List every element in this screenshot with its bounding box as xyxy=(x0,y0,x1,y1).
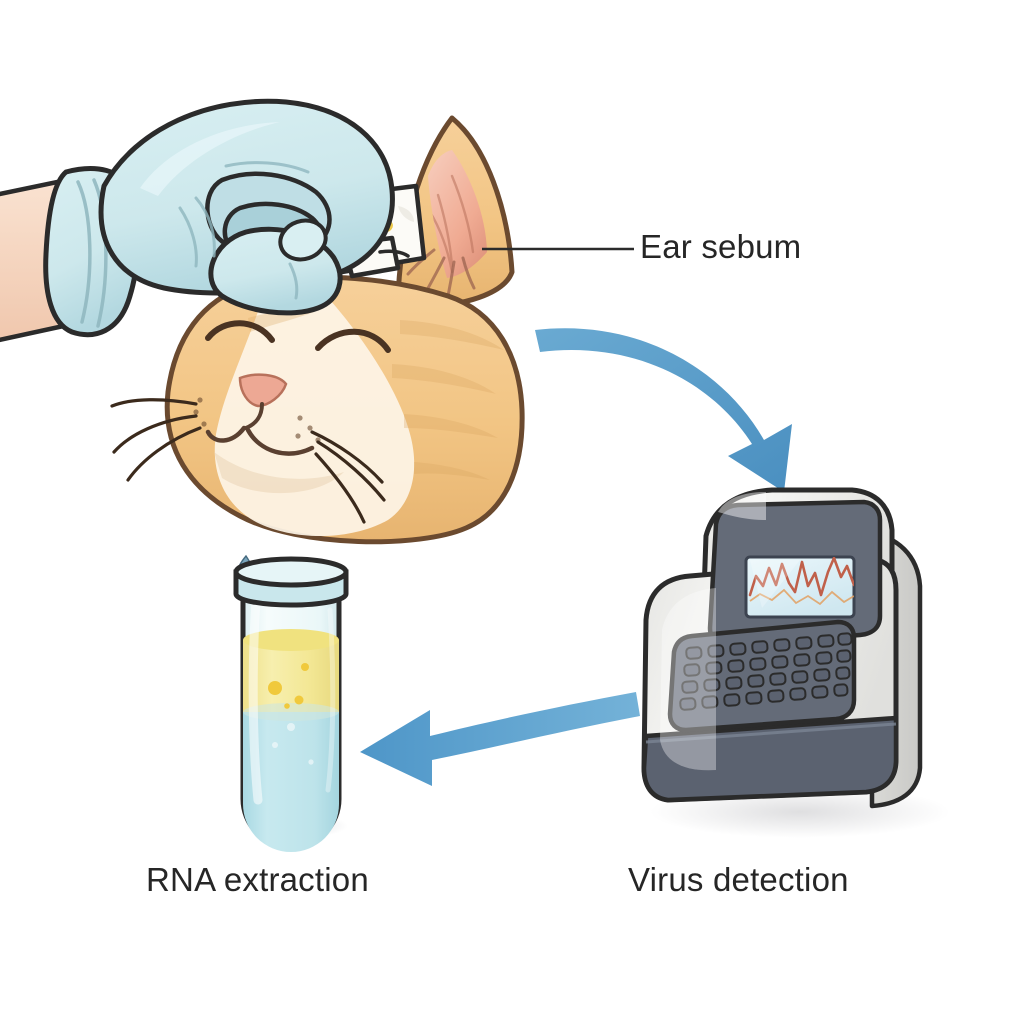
pcr-thermocycler xyxy=(644,490,950,838)
arrow-sample-to-machine xyxy=(535,328,792,492)
arrow-machine-to-tube xyxy=(360,692,640,786)
test-tube xyxy=(236,556,348,852)
label-ear-sebum: Ear sebum xyxy=(640,228,801,266)
label-virus-detection: Virus detection xyxy=(628,861,849,899)
figure-canvas: Ear sebum RNA extraction Virus detection xyxy=(0,0,1024,1024)
label-rna-extraction: RNA extraction xyxy=(146,861,369,899)
